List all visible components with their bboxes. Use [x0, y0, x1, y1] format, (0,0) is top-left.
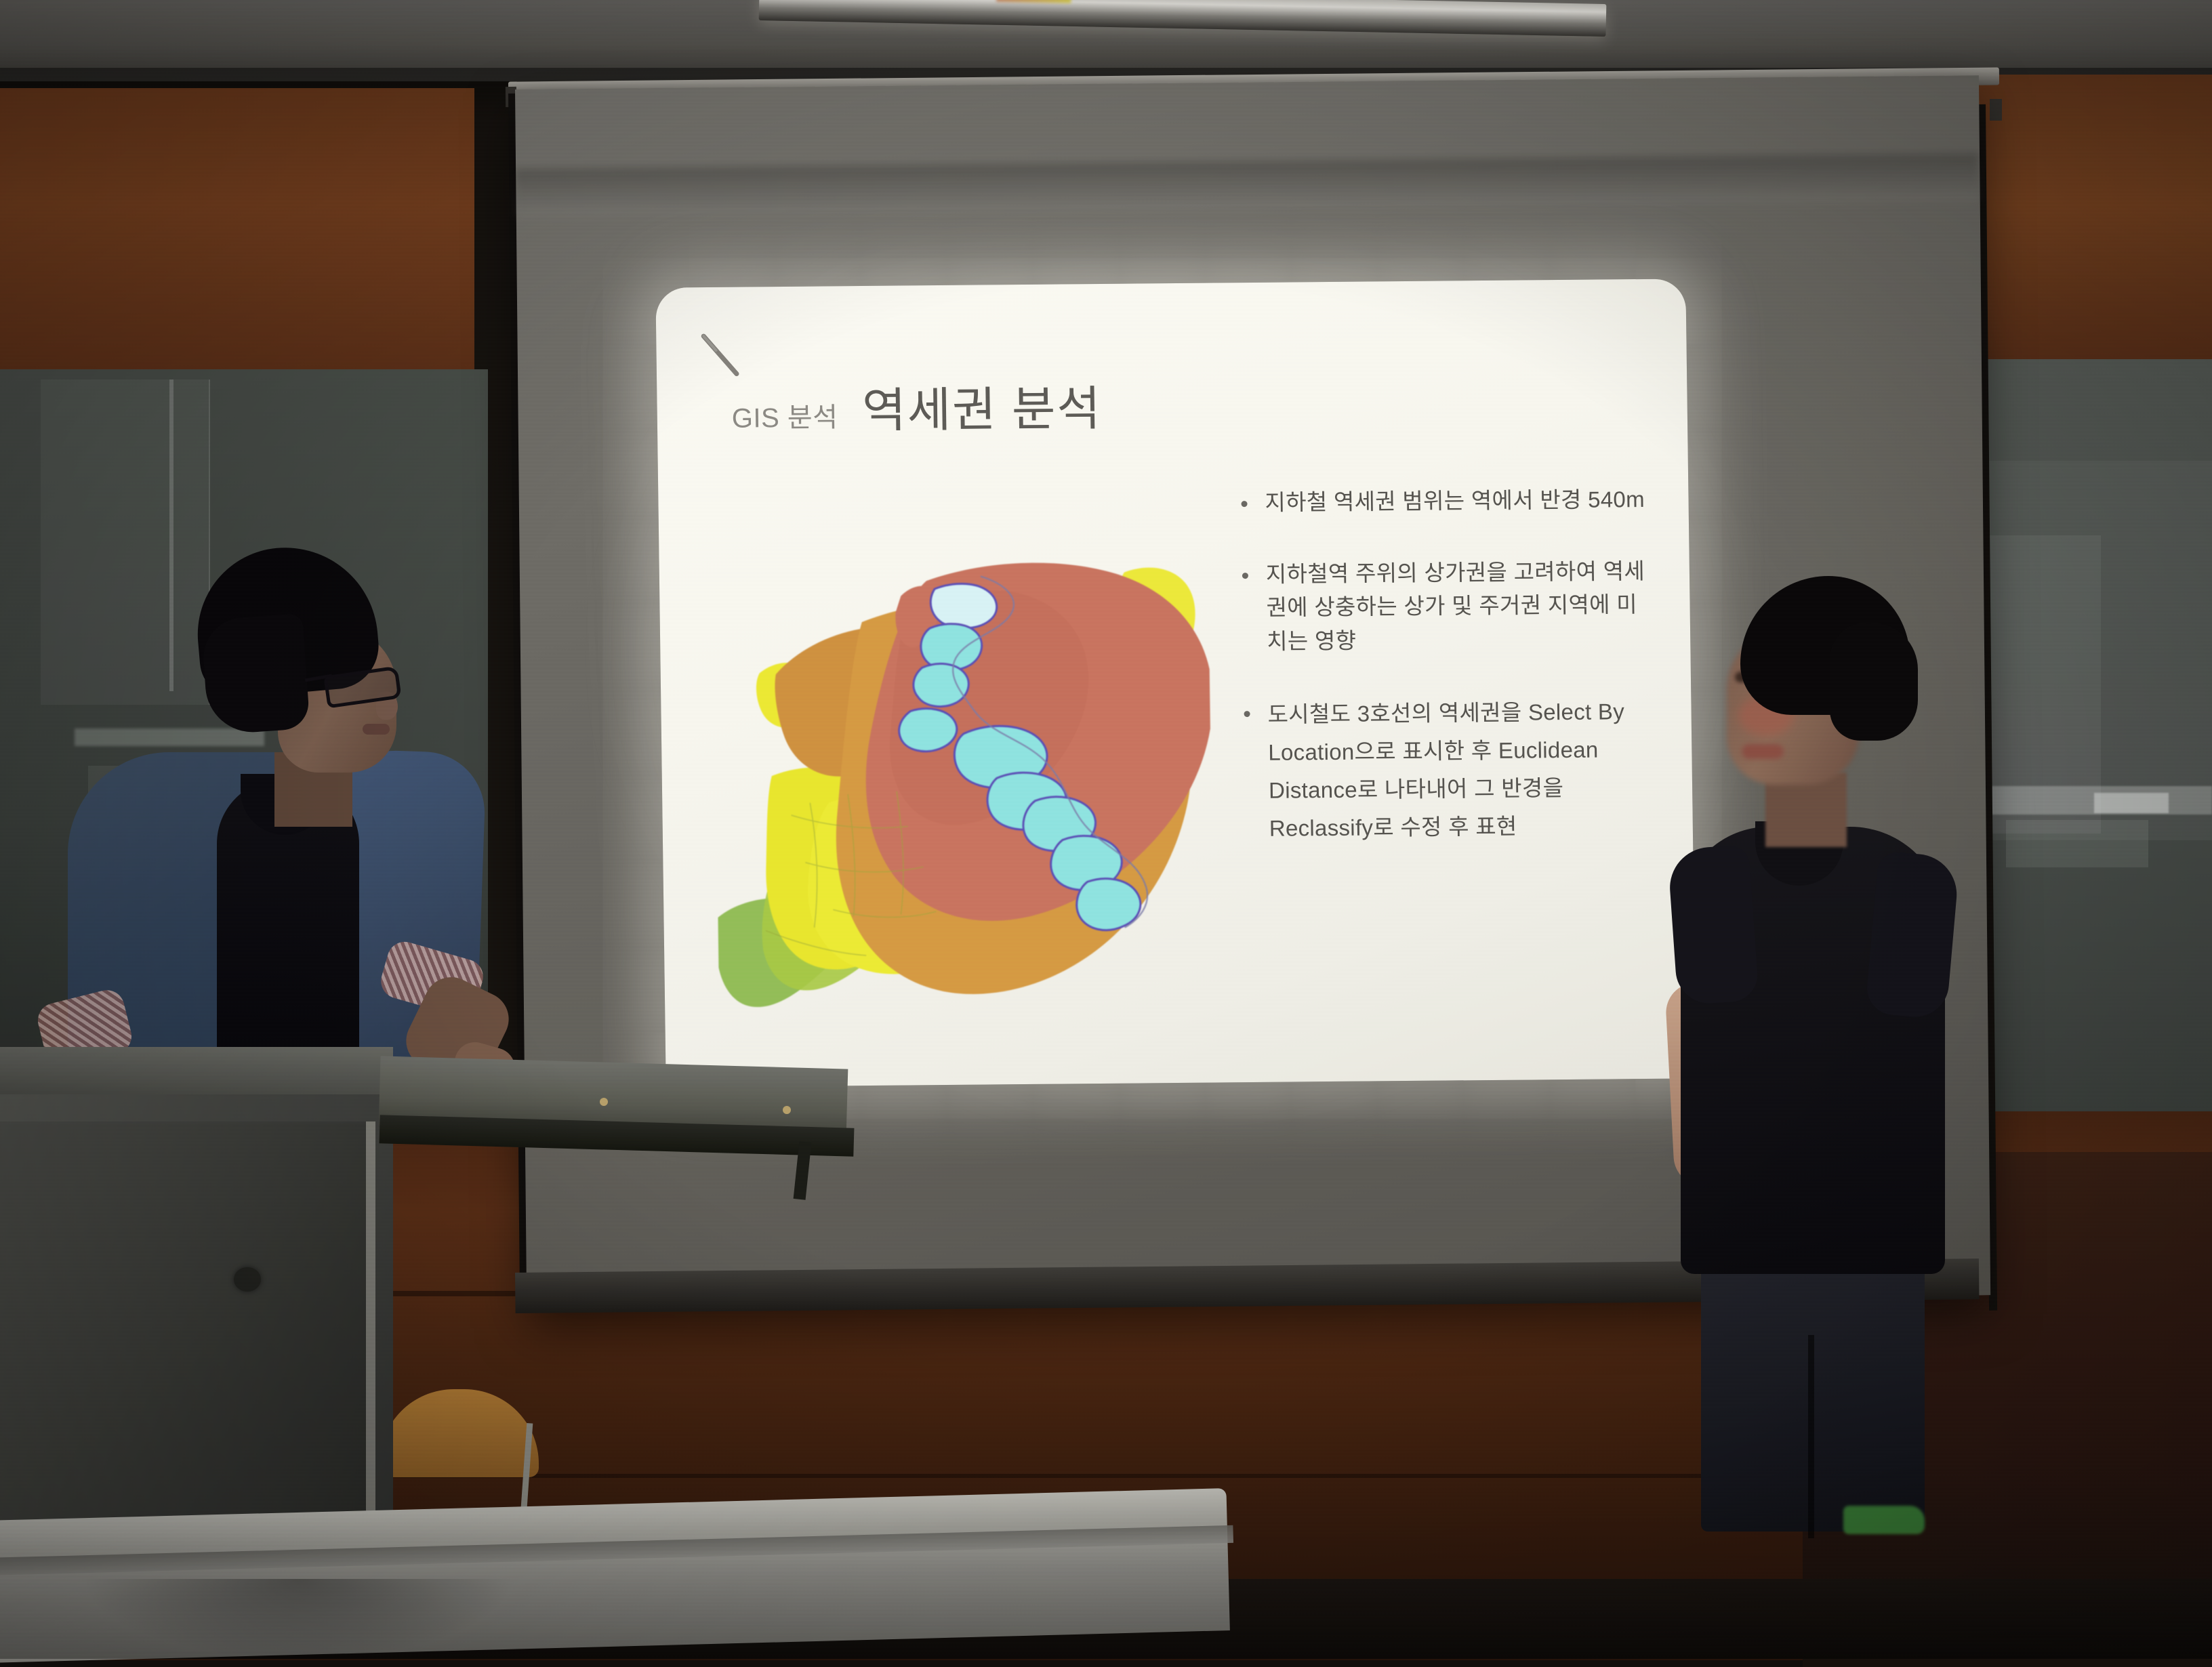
presentation-slide: GIS 분석 역세권 분석: [655, 279, 1696, 1087]
diagonal-tick-mark-icon: [698, 332, 746, 380]
list-item: 도시철도 3호선의 역세권을 Select By Location으로 표시한 …: [1244, 693, 1652, 848]
tray-screw-right: [783, 1106, 791, 1114]
podium-knob[interactable]: [234, 1267, 261, 1292]
presenter-right-leg-seam: [1808, 1335, 1814, 1538]
bullet-dot-icon: [1242, 573, 1248, 579]
list-item: 지하철역 주위의 상가권을 고려하여 역세권에 상충하는 상가 및 주거권 지역…: [1242, 554, 1650, 658]
foreground-desk-shadow: [81, 1579, 515, 1660]
presenter-right-shoe: [1843, 1506, 1925, 1534]
presenter-right-mouth: [1742, 744, 1784, 759]
presenter-right-sleeve-left: [1667, 844, 1759, 1006]
wall-panel-wood-left: [0, 88, 474, 379]
list-item: 지하철 역세권 범위는 역에서 반경 540m: [1241, 482, 1648, 520]
bullet-text-1: 지하철 역세권 범위는 역에서 반경 540m: [1265, 482, 1645, 519]
screen-bracket-right: [1990, 99, 2002, 121]
presenter-left-mouth: [363, 724, 390, 735]
gis-buffer-map: [692, 493, 1214, 1033]
slide-title-row: GIS 분석 역세권 분석: [731, 371, 1102, 443]
slide-title: 역세권 분석: [862, 371, 1103, 441]
presenter-right-sleeve-right: [1865, 850, 1960, 1020]
bullet-dot-icon: [1244, 711, 1250, 717]
bullet-text-2: 지하철역 주위의 상가권을 고려하여 역세권에 상충하는 상가 및 주거권 지역…: [1266, 554, 1650, 657]
podium-right-edge: [366, 1121, 375, 1528]
glass-panel-right-5: [2006, 820, 2148, 867]
bullet-dot-icon: [1241, 501, 1247, 507]
slide-eyebrow: GIS 분석: [731, 395, 838, 442]
room-scene: GIS 분석 역세권 분석: [0, 0, 2212, 1659]
slide-bullet-list: 지하철 역세권 범위는 역에서 반경 540m 지하철역 주위의 상가권을 고려…: [1241, 482, 1653, 886]
light-warm-reflection: [996, 0, 1071, 3]
presenter-left: [7, 535, 529, 1077]
presenter-right: [1640, 562, 1965, 1518]
podium-top-surface: [0, 1047, 393, 1094]
glass-panel-right-4: [2094, 793, 2169, 813]
presenter-right-hair-back: [1830, 622, 1918, 741]
glass-panel-right-3: [1964, 786, 2212, 815]
bullet-text-3: 도시철도 3호선의 역세권을 Select By Location으로 표시한 …: [1267, 693, 1652, 848]
tray-screw-left: [600, 1098, 608, 1106]
podium-body: [0, 1121, 366, 1528]
presenter-left-sideburn: [201, 613, 310, 735]
